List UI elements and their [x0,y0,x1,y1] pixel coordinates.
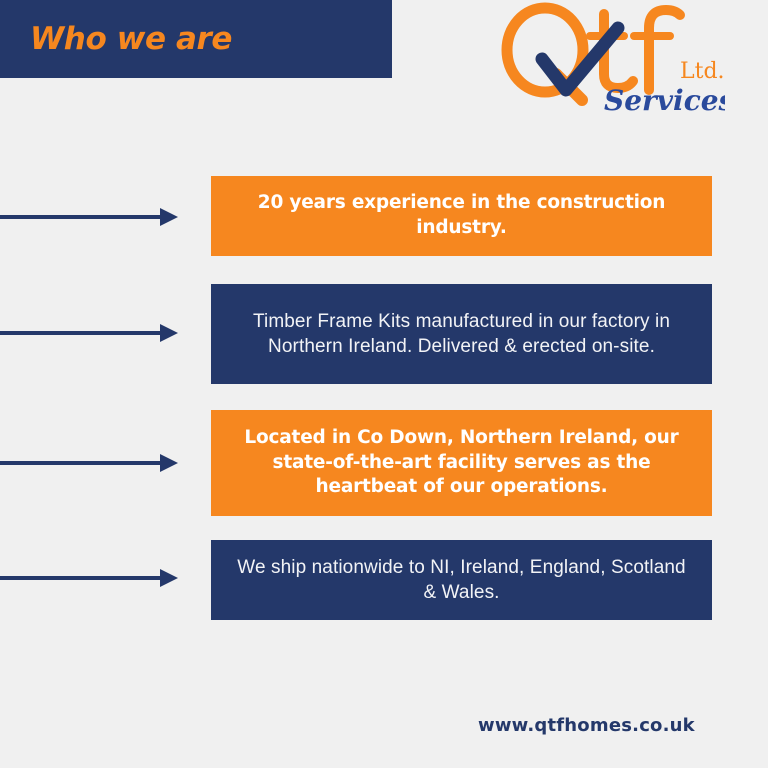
info-box-text: 20 years experience in the construction … [233,191,690,240]
qtf-services-ltd-logo: Ltd. Services [500,2,725,117]
arrow-right-icon-3 [0,452,178,474]
logo-letter-f [634,10,680,90]
logo-ltd-text: Ltd. [680,59,725,84]
header-bar: Who we are [0,0,392,78]
arrow-right-icon-4 [0,567,178,589]
info-box-shipping[interactable]: We ship nationwide to NI, Ireland, Engla… [211,540,712,620]
info-box-experience[interactable]: 20 years experience in the construction … [211,176,712,256]
info-box-location[interactable]: Located in Co Down, Northern Ireland, ou… [211,410,712,516]
page-title: Who we are [0,21,232,57]
info-box-timber-frame-kits[interactable]: Timber Frame Kits manufactured in our fa… [211,284,712,384]
website-url[interactable]: www.qtfhomes.co.uk [478,715,695,736]
info-box-text: Located in Co Down, Northern Ireland, ou… [233,426,690,500]
logo-services-text: Services [604,84,725,117]
info-box-text: We ship nationwide to NI, Ireland, Engla… [233,555,690,606]
arrow-right-icon-1 [0,206,178,228]
info-box-text: Timber Frame Kits manufactured in our fa… [233,309,690,360]
arrow-right-icon-2 [0,322,178,344]
slide-canvas: Who we are Ltd. [0,0,768,768]
